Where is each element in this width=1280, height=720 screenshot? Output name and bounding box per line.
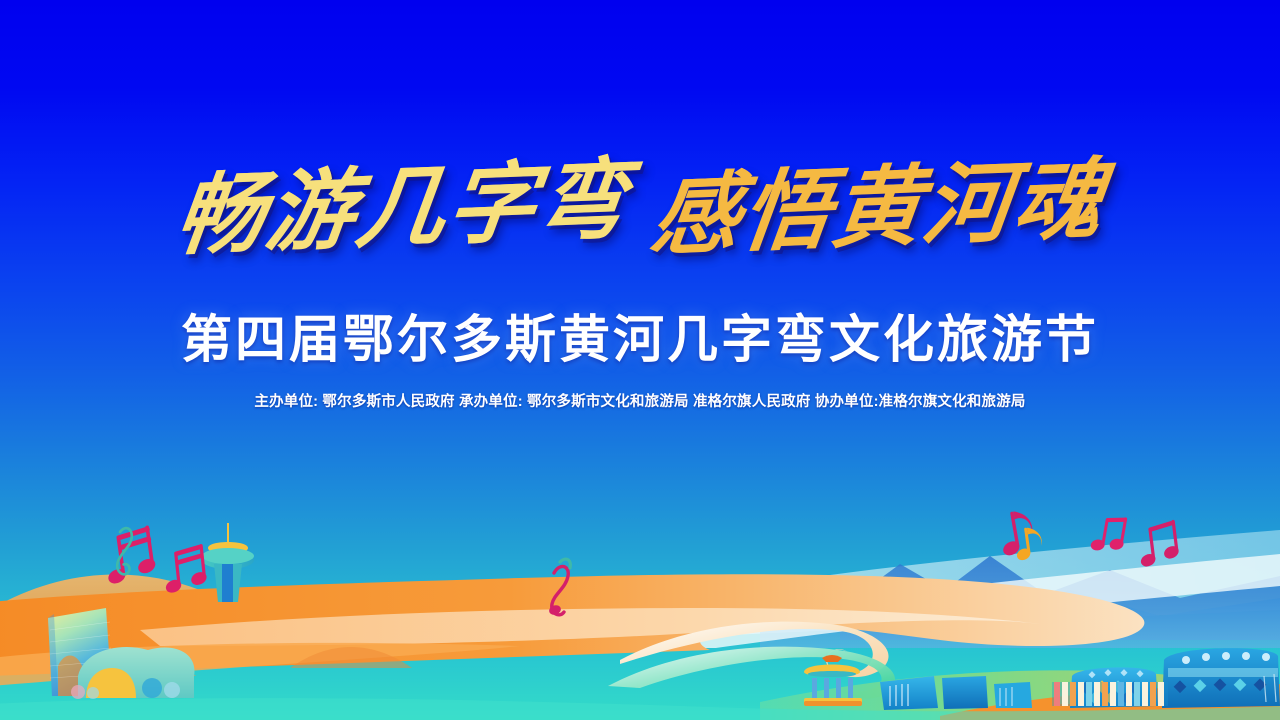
keyboard-strip (1052, 682, 1168, 706)
mongolian-hall-right (1162, 648, 1280, 708)
scenery-illustration (0, 490, 1280, 720)
poster-subtitle: 第四届鄂尔多斯黄河几字弯文化旅游节 (0, 298, 1280, 372)
calligraphy-title: 畅游几字弯感悟黄河魂 (0, 150, 1280, 280)
calligraphy-title-part-two: 感悟黄河魂 (645, 141, 1112, 278)
poster-credits: 主办单位: 鄂尔多斯市人民政府 承办单位: 鄂尔多斯市文化和旅游局 准格尔旗人民… (0, 390, 1280, 411)
festival-poster: 畅游几字弯感悟黄河魂 第四届鄂尔多斯黄河几字弯文化旅游节 主办单位: 鄂尔多斯市… (0, 0, 1280, 720)
calligraphy-title-part-one: 畅游几字弯 (169, 141, 636, 278)
